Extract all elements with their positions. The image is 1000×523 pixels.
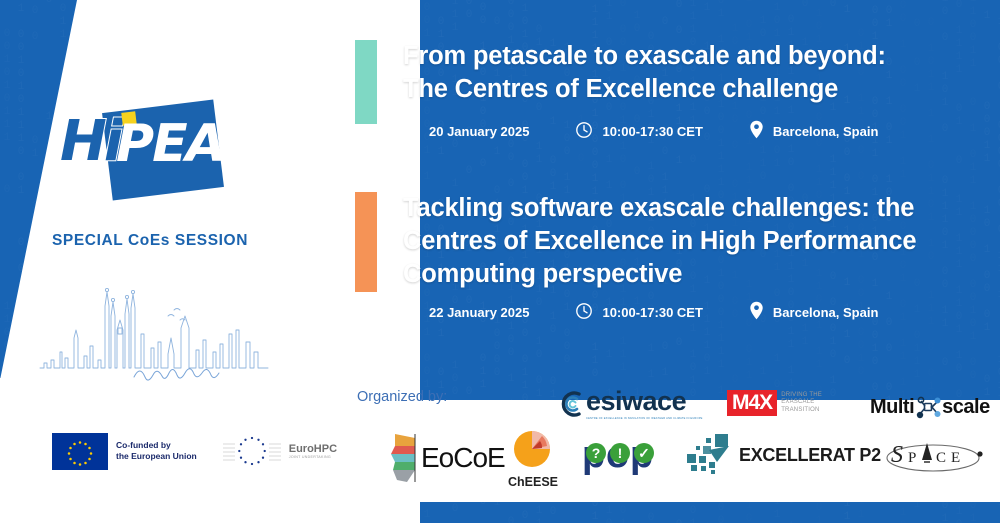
barcelona-skyline-illustration xyxy=(38,272,270,392)
excellerat-mark-icon xyxy=(685,432,737,478)
max-wordmark-box: M4X xyxy=(727,390,777,416)
event-location-text: Barcelona, Spain xyxy=(773,305,878,320)
event-banner: 0 0 1 0 1 0 1 1 1 0 1 1 0 0 1 0 1 1 1 1 … xyxy=(0,0,1000,523)
max-wordmark: M4X xyxy=(732,392,772,413)
clock-icon xyxy=(575,302,593,323)
eu-flag-icon xyxy=(52,433,108,470)
event-date: 22 January 2025 xyxy=(403,302,529,322)
eurohpc-logo: EuroHPC JOINT UNDERTAKING xyxy=(221,432,337,470)
map-pin-icon xyxy=(749,120,764,142)
space-mark-icon: S P C E xyxy=(883,432,989,478)
pop-mark-icon: pop ?!✓ xyxy=(583,436,667,476)
logo-eocoe: EoCoE xyxy=(385,432,505,484)
hipeac-logo-peac: PEAC xyxy=(116,118,258,170)
multixscale-text-a: Multi xyxy=(870,396,914,419)
eurohpc-mark-icon xyxy=(221,432,283,470)
eu-funding-line1: Co-funded by xyxy=(116,440,197,451)
event-title-line: Tackling software exascale challenges: t… xyxy=(403,192,916,225)
funding-logos: Co-funded by the European Union xyxy=(52,432,337,470)
hipeac-logo-hi: Hi xyxy=(60,114,120,170)
event-time-text: 10:00-17:30 CET xyxy=(602,305,702,320)
svg-text:!: ! xyxy=(618,445,623,461)
logo-esiwace: esiwace CENTRE OF EXCELLENCE IN SIMULATI… xyxy=(555,388,703,420)
map-pin-icon xyxy=(749,301,764,323)
event-title: From petascale to exascale and beyond: T… xyxy=(403,40,886,106)
eurohpc-subtitle: JOINT UNDERTAKING xyxy=(289,455,337,459)
eocoe-mark-icon xyxy=(385,432,419,484)
event-title-line: Centres of Excellence in High Performanc… xyxy=(403,225,916,258)
excellerat-wordmark: EXCELLERAT P2 xyxy=(739,445,881,466)
eocoe-wordmark: EoCoE xyxy=(421,442,505,474)
esiwace-tagline: CENTRE OF EXCELLENCE IN SIMULATION OF WE… xyxy=(586,417,703,420)
event-date-text: 22 January 2025 xyxy=(429,305,529,320)
max-tagline: DRIVING THE EXASCALE TRANSITION xyxy=(781,392,839,415)
logo-multixscale: Multi scale xyxy=(870,392,990,422)
event-time: 10:00-17:30 CET xyxy=(575,121,702,142)
event-meta: 20 January 2025 10:00-17:30 CET xyxy=(403,120,886,142)
svg-text:?: ? xyxy=(592,445,601,461)
special-session-label: SPECIAL CoEs SESSION xyxy=(0,232,300,250)
event-location: Barcelona, Spain xyxy=(749,120,878,142)
event-location-text: Barcelona, Spain xyxy=(773,124,878,139)
event-item: From petascale to exascale and beyond: T… xyxy=(355,40,886,142)
eurohpc-text: EuroHPC JOINT UNDERTAKING xyxy=(289,443,337,459)
event-accent-bar xyxy=(355,192,377,292)
logo-pop: pop ?!✓ xyxy=(583,436,667,481)
eu-funding-line2: the European Union xyxy=(116,451,197,462)
multixscale-node-icon xyxy=(913,392,943,422)
svg-text:✓: ✓ xyxy=(638,445,650,461)
event-title: Tackling software exascale challenges: t… xyxy=(403,192,916,291)
event-time-text: 10:00-17:30 CET xyxy=(602,124,702,139)
event-title-line: Computing perspective xyxy=(403,258,916,291)
svg-text:P: P xyxy=(908,450,916,466)
cheese-pie-icon xyxy=(509,428,557,472)
svg-text:S: S xyxy=(891,442,903,468)
event-title-line: The Centres of Excellence challenge xyxy=(403,73,886,106)
eu-funding-text: Co-funded by the European Union xyxy=(116,440,197,462)
event-item: Tackling software exascale challenges: t… xyxy=(355,192,916,323)
events-list: From petascale to exascale and beyond: T… xyxy=(355,0,1000,378)
svg-text:E: E xyxy=(951,450,960,466)
clock-icon xyxy=(575,121,593,142)
event-title-line: From petascale to exascale and beyond: xyxy=(403,40,886,73)
esiwace-mark-icon xyxy=(555,389,585,419)
event-location: Barcelona, Spain xyxy=(749,301,878,323)
calendar-icon xyxy=(403,302,420,322)
event-date: 20 January 2025 xyxy=(403,121,529,141)
eurohpc-name: EuroHPC xyxy=(289,443,337,455)
event-accent-bar xyxy=(355,40,377,124)
calendar-icon xyxy=(403,121,420,141)
logo-excellerat: EXCELLERAT P2 xyxy=(685,432,881,478)
logo-max: M4X DRIVING THE EXASCALE TRANSITION xyxy=(727,390,839,416)
event-time: 10:00-17:30 CET xyxy=(575,302,702,323)
logo-space: S P C E xyxy=(883,432,989,483)
eu-funding-logo: Co-funded by the European Union xyxy=(52,433,197,470)
cheese-wordmark: ChEESE xyxy=(497,475,569,489)
event-date-text: 20 January 2025 xyxy=(429,124,529,139)
hipeac-logo: Hi PEAC xyxy=(60,100,260,210)
event-meta: 22 January 2025 10:00-17:30 CET xyxy=(403,301,916,323)
logo-cheese: ChEESE xyxy=(497,428,569,489)
esiwace-wordmark: esiwace xyxy=(586,388,703,415)
svg-text:C: C xyxy=(936,450,946,466)
multixscale-text-b: scale xyxy=(942,396,990,419)
organizer-logos: esiwace CENTRE OF EXCELLENCE IN SIMULATI… xyxy=(355,380,1000,502)
